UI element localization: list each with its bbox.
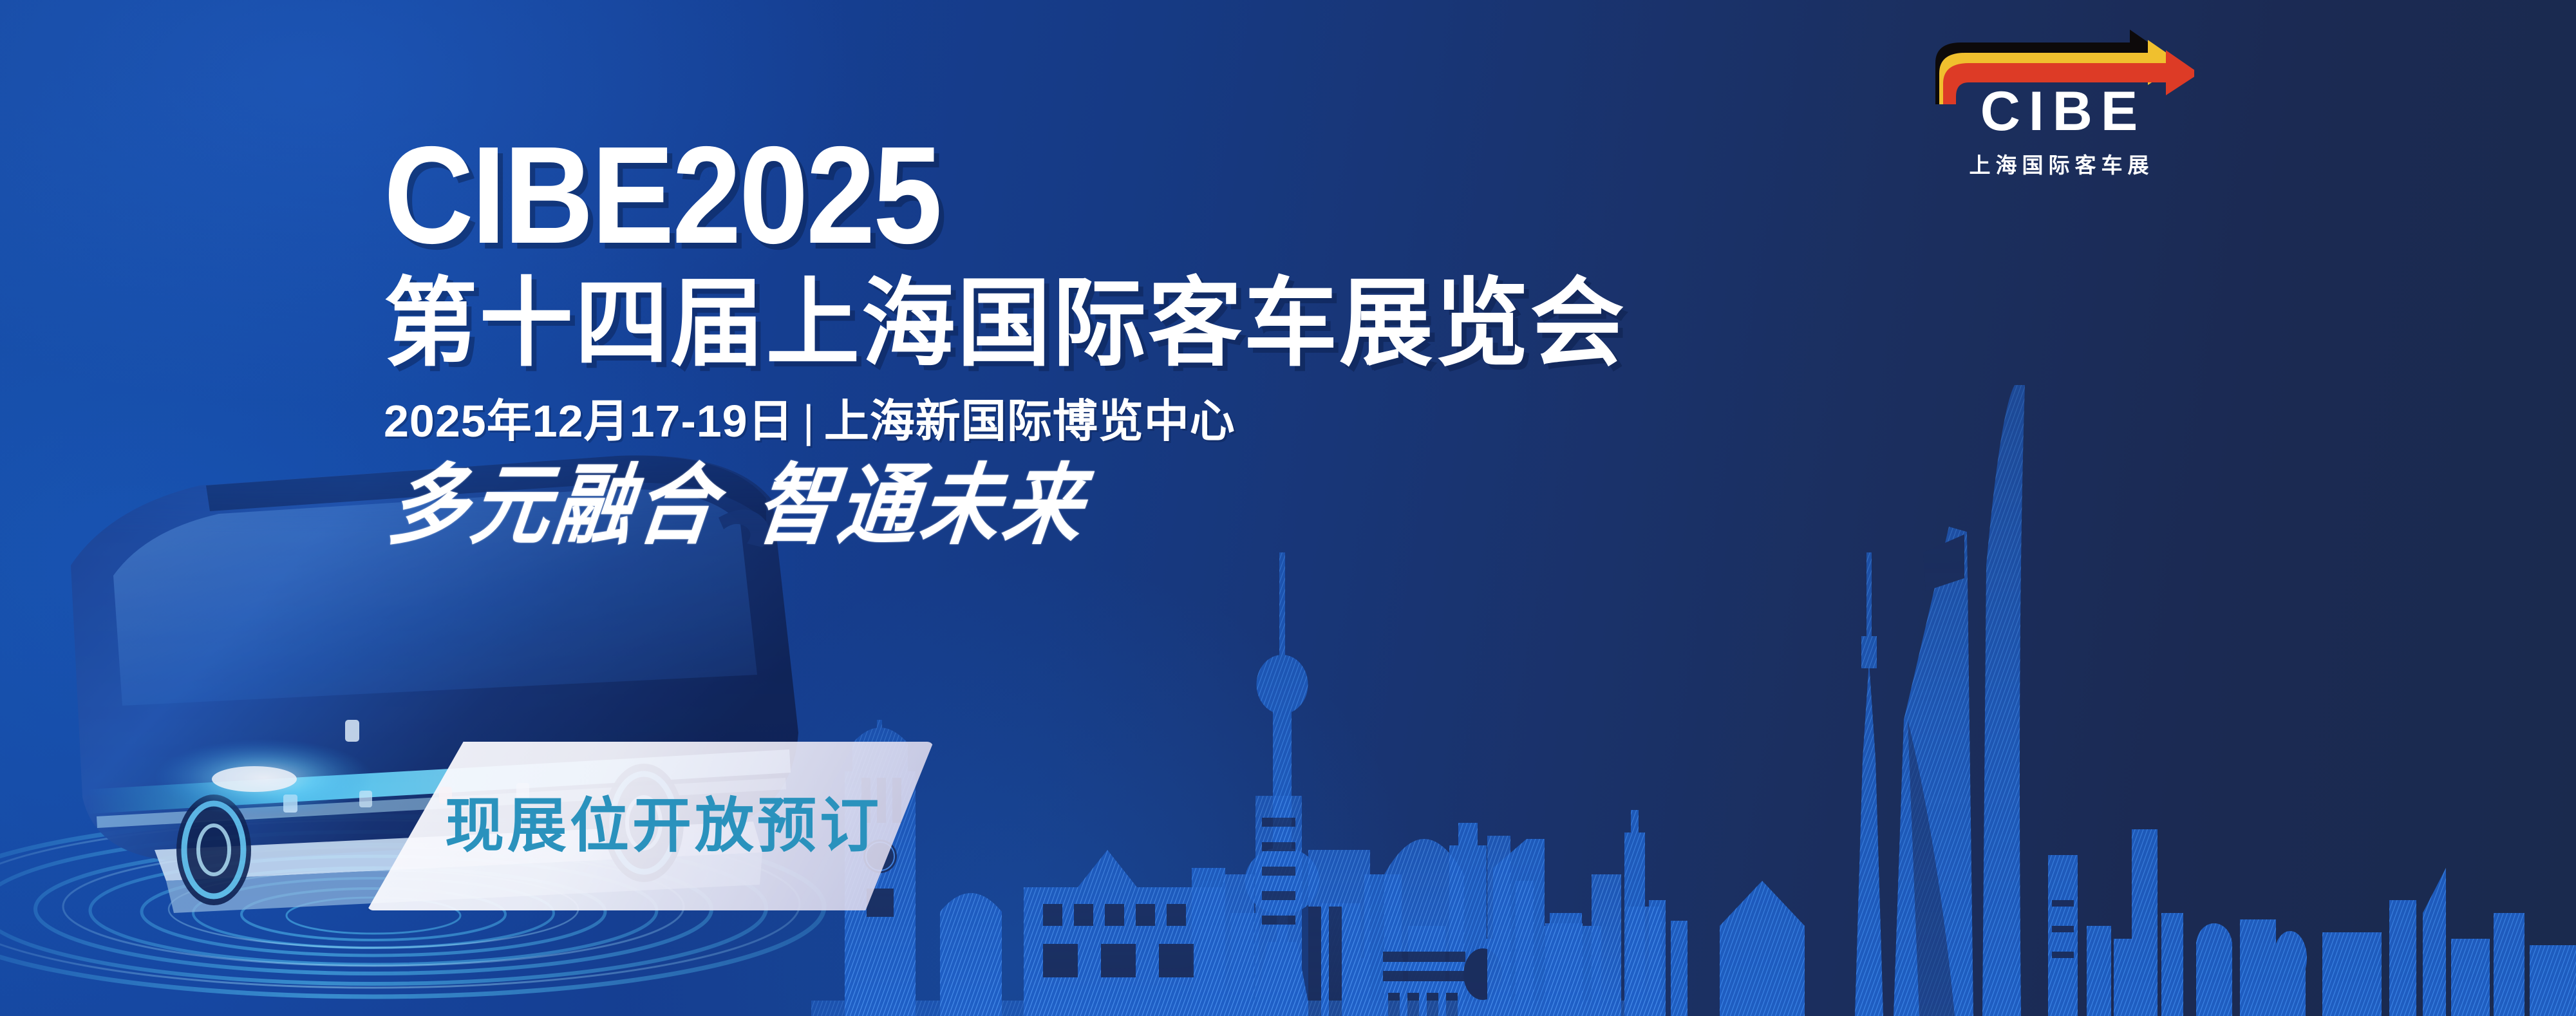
slogan-part-1: 多元融合	[383, 453, 726, 556]
meta-separator: |	[794, 396, 824, 446]
cibe-logo[interactable]: CIBE 上海国际客车展	[1924, 14, 2194, 201]
headline-block: CIBE2025 第十四届上海国际客车展览会 2025年12月17-19日|上海…	[384, 129, 1929, 553]
page-title-chinese: 第十四届上海国际客车展览会	[384, 273, 1883, 373]
booth-booking-button[interactable]: 现展位开放预订	[367, 742, 934, 910]
logo-subtitle: 上海国际客车展	[1924, 155, 2194, 176]
bund-skyline-silhouette	[811, 681, 1661, 1016]
event-slogan: 多元融合智通未来	[384, 456, 1941, 553]
booth-booking-label: 现展位开放预订	[442, 796, 882, 856]
event-venue: 上海新国际博览中心	[824, 396, 1236, 446]
cibe-2025-event-banner: CIBE 上海国际客车展 CIBE2025 第十四届上海国际客车展览会 2025…	[0, 0, 2576, 1016]
event-meta: 2025年12月17-19日|上海新国际博览中心	[384, 395, 1929, 447]
logo-wordmark: CIBE	[1924, 84, 2194, 139]
page-title-english: CIBE2025	[384, 129, 1774, 261]
slogan-part-2: 智通未来	[750, 453, 1093, 556]
event-date: 2025年12月17-19日	[384, 396, 794, 446]
